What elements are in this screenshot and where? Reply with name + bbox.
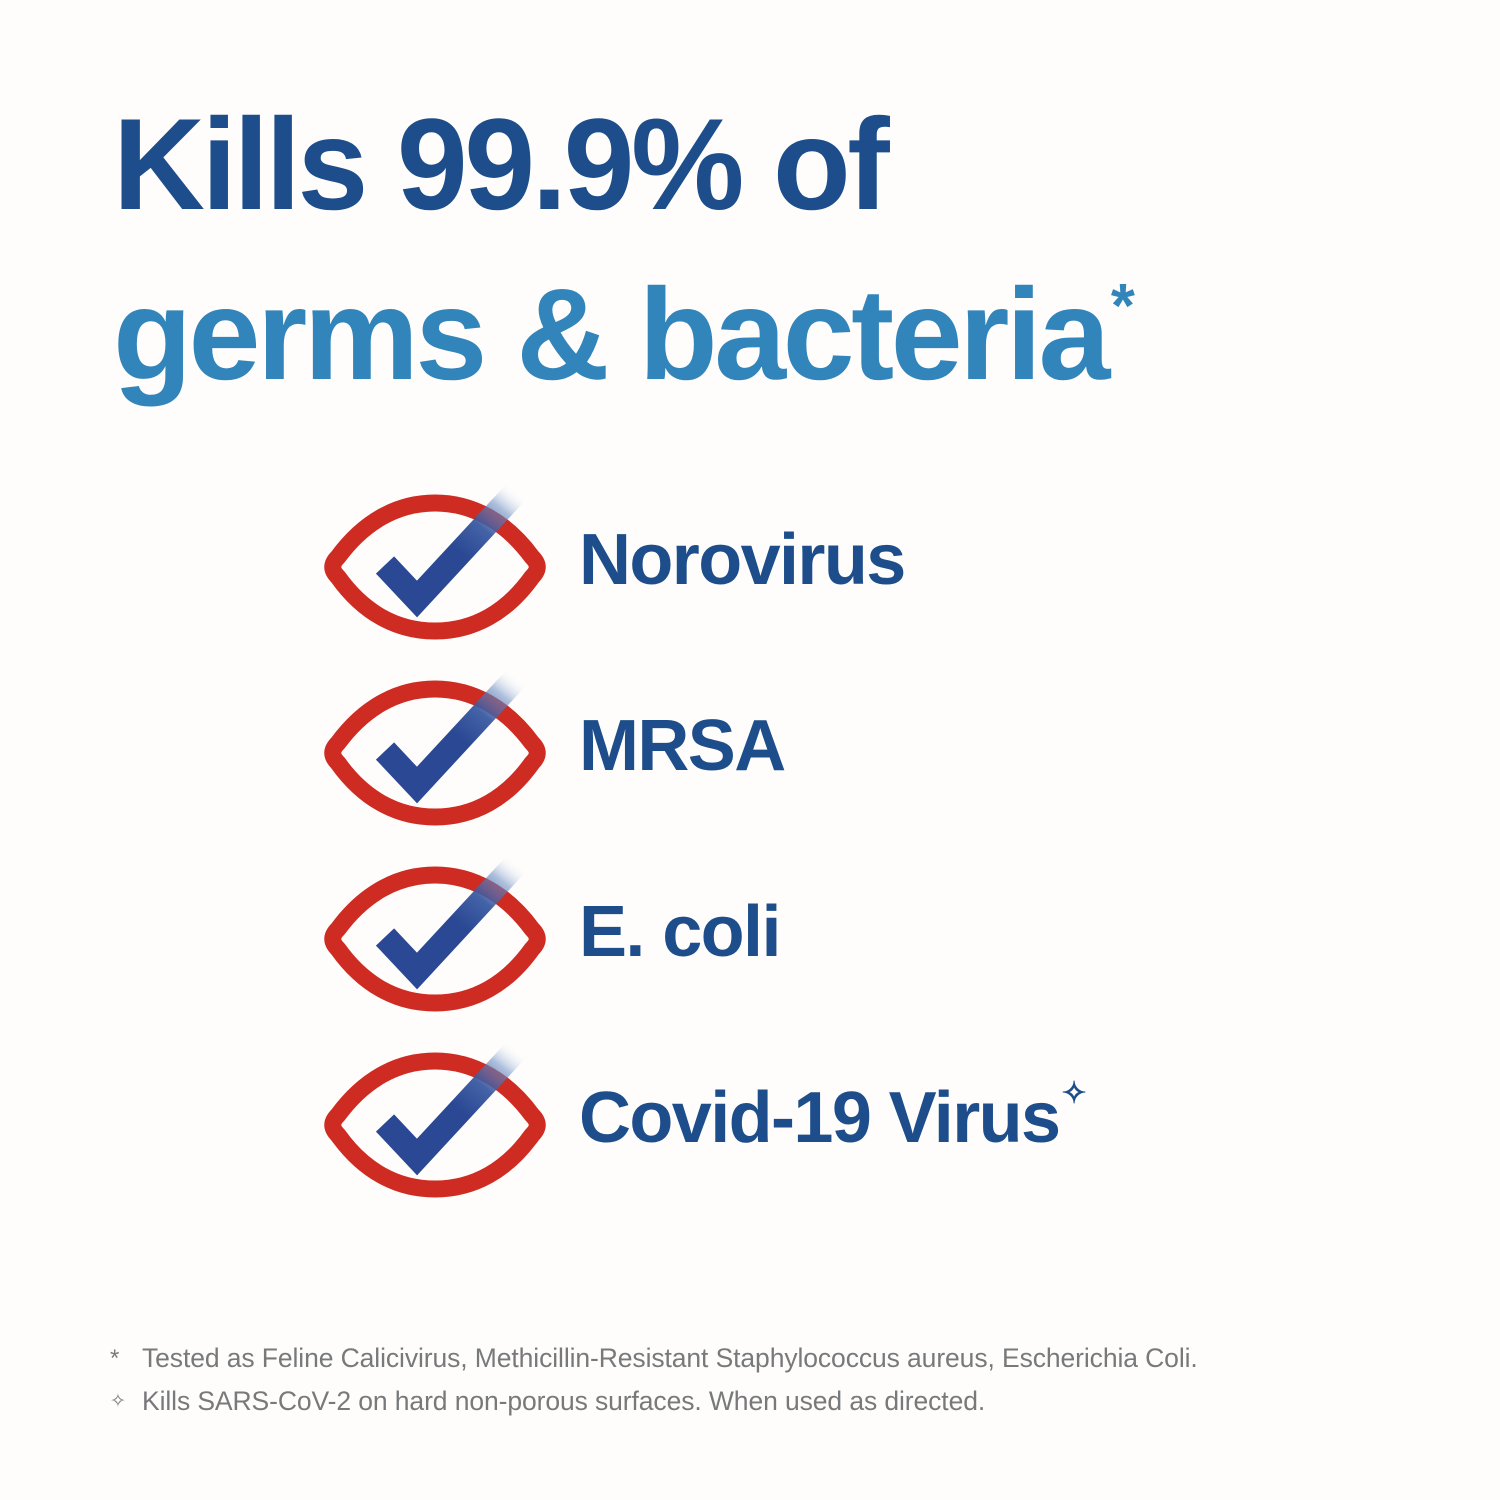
list-item-label: Norovirus	[579, 524, 905, 596]
sparkle-icon: ✧	[1061, 1077, 1086, 1110]
germ-kill-list: Norovirus	[327, 487, 1427, 1191]
list-item-text: Covid-19 Virus	[579, 1078, 1059, 1158]
promo-panel: Kills 99.9% of germs & bacteria*	[0, 0, 1500, 1500]
list-item-label: MRSA	[579, 710, 785, 782]
asterisk-icon: *	[110, 1338, 142, 1379]
list-item-label: Covid-19 Virus✧	[579, 1082, 1085, 1154]
sparkle-icon: ✧	[110, 1381, 142, 1422]
list-item: Covid-19 Virus✧	[327, 1045, 1427, 1191]
footnote-text: Kills SARS-CoV-2 on hard non-porous surf…	[142, 1381, 1210, 1422]
list-item-text: E. coli	[579, 892, 780, 972]
footnotes: * Tested as Feline Calicivirus, Methicil…	[110, 1338, 1210, 1422]
list-item-label: E. coli	[579, 896, 780, 968]
list-item-text: Norovirus	[579, 520, 905, 600]
red-lens-blue-check-icon	[327, 859, 543, 1005]
red-lens-blue-check-icon	[327, 673, 543, 819]
red-lens-blue-check-icon	[327, 1045, 543, 1191]
list-item: E. coli	[327, 859, 1427, 1005]
page-title: Kills 99.9% of germs & bacteria*	[113, 88, 1393, 410]
red-lens-blue-check-icon	[327, 487, 543, 633]
footnote-sparkle: ✧ Kills SARS-CoV-2 on hard non-porous su…	[110, 1381, 1210, 1422]
headline-line-primary: Kills 99.9% of	[113, 88, 1367, 240]
footnote-text: Tested as Feline Calicivirus, Methicilli…	[142, 1338, 1210, 1379]
list-item: Norovirus	[327, 487, 1427, 633]
footnote-asterisk: * Tested as Feline Calicivirus, Methicil…	[110, 1338, 1210, 1379]
list-item-text: MRSA	[579, 706, 785, 786]
list-item: MRSA	[327, 673, 1427, 819]
headline-asterisk-icon: *	[1111, 272, 1135, 341]
headline-secondary-text: germs & bacteria	[113, 261, 1107, 407]
headline-line-secondary: germs & bacteria*	[113, 258, 1387, 410]
